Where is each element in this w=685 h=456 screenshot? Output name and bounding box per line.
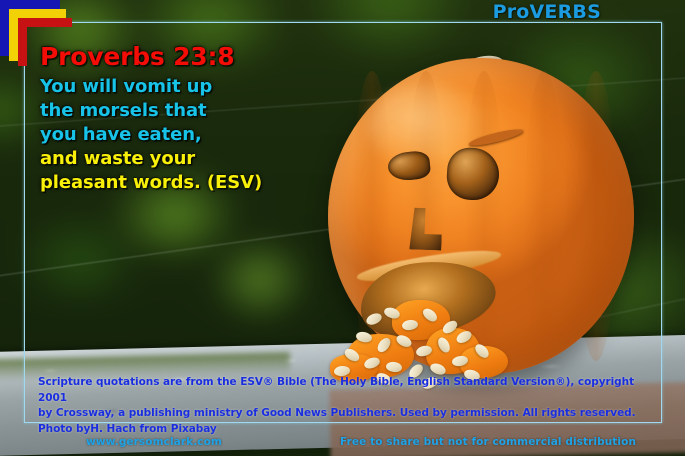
pumpkin-ridge [576,71,616,362]
credits-line-1: Scripture quotations are from the ESV® B… [38,375,638,406]
pumpkin-vomit-pile [330,288,520,382]
verse-block: Proverbs 23:8 You will vomit up the mors… [40,42,340,195]
pumpkin-ridge [524,71,564,362]
copyright-credits: Scripture quotations are from the ESV® B… [38,375,638,437]
poster-canvas: ProVERBS Proverbs 23:8 You will vomit up… [0,0,685,456]
verse-line-4: and waste your [40,147,340,171]
license-notice: Free to share but not for commercial dis… [340,436,636,448]
seed [365,311,384,327]
website-url[interactable]: www.gersomclark.com [86,436,222,448]
credits-line-2: by Crossway, a publishing ministry of Go… [38,406,638,422]
credits-line-3: Photo byH. Hach from Pixabay [38,422,638,438]
verse-reference: Proverbs 23:8 [40,42,340,71]
verse-line-3: you have eaten, [40,123,340,147]
verse-line-2: the morsels that [40,99,340,123]
verse-line-1: You will vomit up [40,75,340,99]
verse-line-5: pleasant words. (ESV) [40,171,340,195]
brand-logo-text: ProVERBS [493,1,601,23]
